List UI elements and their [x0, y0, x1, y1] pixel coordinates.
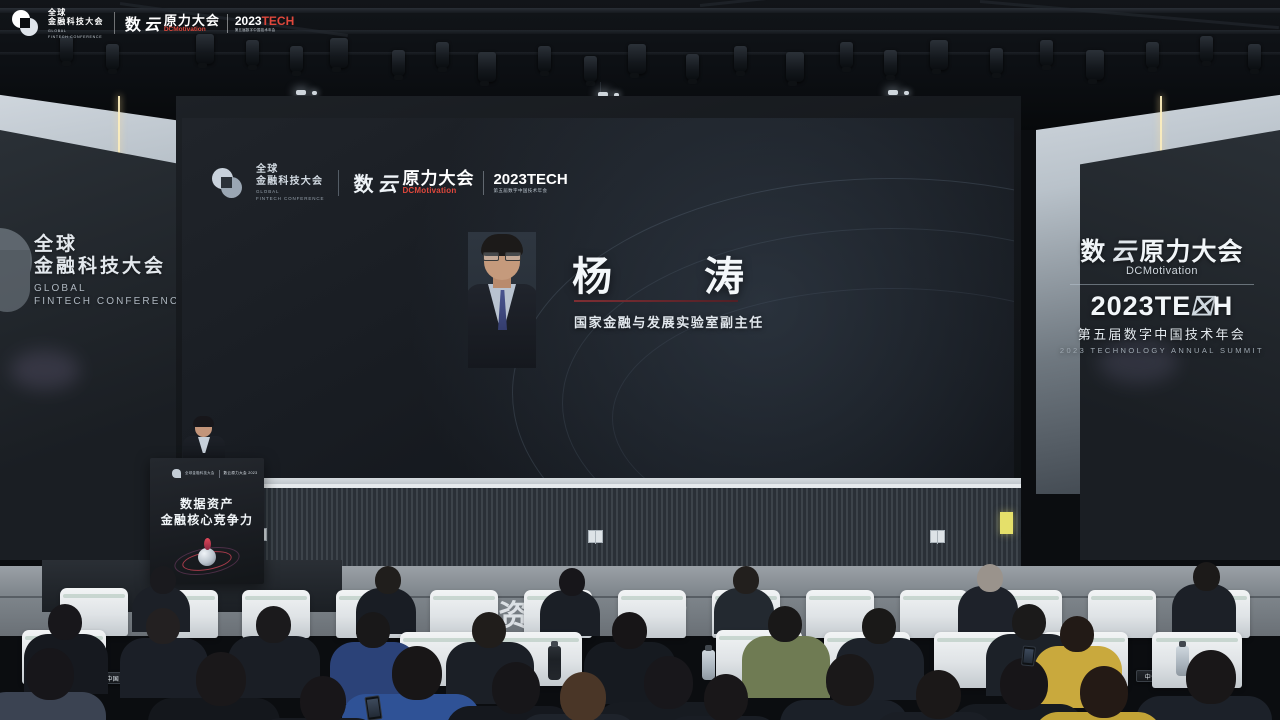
right-wall-tech-post: H [1213, 291, 1234, 321]
podium-logo-divider [219, 470, 220, 478]
overlay-divider2 [227, 14, 228, 33]
live-speaker-figure [183, 418, 225, 462]
ceiling-light [296, 90, 306, 95]
nebula-glow [10, 350, 80, 390]
podium-fintech-mark-icon [172, 469, 181, 478]
ceiling-light [888, 90, 898, 95]
left-wall-branding-text: 全球 金融科技大会 GLOBAL FINTECH CONFERENCE [34, 234, 188, 307]
podium-logo-cn: 全球金融科技大会 [185, 471, 215, 475]
screen-fintech-cn2: 金融科技大会 [256, 176, 324, 188]
broadcast-logo-overlay: 全球 金融科技大会 GLOBAL FINTECH CONFERENCE 数 云 … [12, 8, 294, 39]
stage-spotlight [1086, 50, 1104, 80]
speaker-title: 国家金融与发展实验室副主任 [574, 312, 764, 331]
overlay-cn-sub: 第五届数字中国技术年会 [235, 29, 294, 32]
left-wall-en-line1: GLOBAL [34, 283, 188, 295]
stage-spotlight [392, 50, 405, 76]
screen-tech: TECH [527, 171, 568, 188]
screen-logo-divider [338, 170, 339, 196]
overlay-divider [114, 12, 115, 34]
stage-spotlight [840, 42, 853, 68]
speaker-name-underline [574, 300, 738, 302]
stage-spotlight [1146, 42, 1159, 68]
audience-chair [1088, 590, 1156, 638]
truss-diagonal [700, 0, 1019, 7]
overlay-fintech-en1: GLOBAL [48, 29, 104, 33]
right-wall-yun: 云 [1110, 232, 1135, 268]
screen-fintech-en2: FINTECH CONFERENCE [256, 196, 324, 201]
stage-spotlight [686, 54, 699, 80]
stage-spotlight [990, 48, 1003, 74]
speaker-portrait [468, 232, 536, 368]
stage-spotlight [628, 44, 646, 74]
screen-year: 2023 [493, 171, 526, 188]
truss-diagonal [980, 0, 1279, 29]
right-wall-cn-sub: 第五届数字中国技术年会 [1060, 324, 1264, 343]
podium-logo-cn2: 数云原力大会 2023 [224, 471, 258, 476]
screen-en-sub: DCMotivation [402, 187, 474, 195]
right-wall-cn-main: 原力大会 [1139, 232, 1243, 268]
overlay-dcm-logo: 数 云 原力大会 DCMotivation 2023TECH 第五届数字中国技术… [125, 11, 294, 35]
ceiling-light [312, 91, 317, 95]
stage-spotlight [584, 56, 597, 82]
right-wall-branding-text: 数 云 原力大会 DCMotivation 2023TE⛝H 第五届数字中国技术… [1060, 232, 1264, 355]
stage-spotlight [786, 52, 804, 82]
right-wall-divider [1070, 284, 1254, 285]
podium-logo-row: 全球金融科技大会 数云原力大会 2023 [172, 469, 257, 478]
stage-spotlight [330, 38, 348, 68]
global-fintech-mark-icon [12, 10, 38, 36]
stage-spotlight [1248, 44, 1261, 70]
conference-stage-scene: 全球 金融科技大会 GLOBAL FINTECH CONFERENCE 数 云 … [0, 0, 1280, 720]
water-bottle [548, 646, 561, 680]
overlay-fintech-text: 全球 金融科技大会 GLOBAL FINTECH CONFERENCE [48, 8, 104, 39]
stage-spotlight [290, 46, 303, 72]
overlay-fintech-en2: FINTECH CONFERENCE [48, 35, 104, 39]
overlay-fintech-cn1: 全球 [48, 8, 104, 17]
right-wall-tech-pre: TE [1155, 291, 1192, 321]
audience-area: 中国民生银行 中国进出口银行 中信银行 [0, 520, 1280, 720]
overlay-fintech-cn2: 金融科技大会 [48, 17, 104, 26]
overlay-yun: 云 [144, 11, 160, 35]
screen-yun: 云 [377, 168, 397, 197]
screen-cn-main: 原力大会 [402, 170, 474, 187]
left-wall-en-line2: FINTECH CONFERENCE [34, 296, 188, 308]
swirl-c-icon: ⛝ [1191, 291, 1213, 321]
stage-spotlight [478, 52, 496, 82]
ceiling-light [904, 91, 909, 95]
water-bottle [702, 650, 715, 680]
global-fintech-mark-icon [212, 168, 242, 198]
stage-spotlight [60, 36, 73, 62]
overlay-shu: 数 [125, 11, 140, 35]
screen-logo-row: 全球 金融科技大会 GLOBAL FINTECH CONFERENCE 数 云 … [212, 164, 568, 201]
left-wall-cn-line2: 金融科技大会 [34, 256, 188, 278]
speaker-name: 杨 涛 [572, 244, 770, 302]
screen-logo-divider2 [483, 171, 484, 195]
screen-cn-sub: 第五届数字中国技术年会 [493, 189, 567, 194]
overlay-cn-main: 原力大会 [164, 14, 220, 27]
stage-spotlight [436, 42, 449, 68]
right-wall-shu: 数 [1080, 232, 1106, 268]
stage-spotlight [1200, 36, 1213, 62]
screen-fintech-text: 全球 金融科技大会 GLOBAL FINTECH CONFERENCE [256, 164, 324, 201]
stage-spotlight [734, 46, 747, 72]
smartphone [1021, 645, 1036, 666]
stage-spotlight [106, 44, 119, 70]
eyeglasses-icon [482, 252, 522, 261]
stage-spotlight [246, 40, 259, 66]
screen-fintech-cn1: 全球 [256, 164, 324, 176]
smartphone [364, 695, 382, 720]
overlay-tech: TECH [262, 14, 295, 28]
right-wall-year: 2023 [1091, 291, 1155, 321]
overlay-year: 2023 [235, 14, 262, 28]
stage-spotlight [884, 50, 897, 76]
left-wall-cn-line1: 全球 [34, 234, 188, 256]
screen-shu: 数 [353, 168, 372, 197]
right-wall-en-sub2: 2023 TECHNOLOGY ANNUAL SUMMIT [1060, 346, 1264, 355]
screen-fintech-en1: GLOBAL [256, 189, 324, 194]
stage-spotlight [538, 46, 551, 72]
stage-spotlight [1040, 40, 1053, 66]
podium-title-line1: 数据资产 [150, 496, 264, 512]
stage-spotlight [930, 40, 948, 70]
screen-dcm-logo: 数 云 原力大会 DCMotivation 2023TECH 第五届数字中国技术… [353, 168, 567, 197]
